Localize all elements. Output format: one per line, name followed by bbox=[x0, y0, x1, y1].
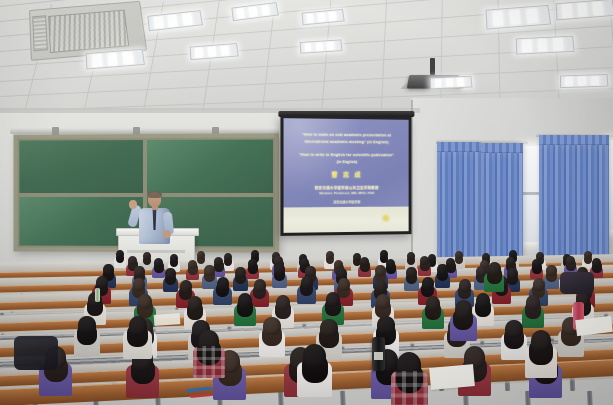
bench-leg bbox=[587, 391, 593, 405]
student-head bbox=[505, 320, 522, 338]
student-head bbox=[116, 250, 124, 258]
student-head bbox=[224, 253, 232, 261]
student-head bbox=[180, 280, 192, 293]
student bbox=[405, 267, 418, 289]
student-head bbox=[251, 250, 259, 258]
student-head bbox=[129, 316, 147, 336]
student bbox=[187, 260, 198, 279]
student-head bbox=[375, 265, 385, 276]
ceiling-light bbox=[516, 36, 575, 55]
student bbox=[236, 293, 254, 323]
student-head bbox=[526, 295, 540, 310]
student bbox=[234, 267, 247, 289]
student-white-shirt bbox=[528, 330, 554, 374]
slide-affiliation-cn: 西安交通大学医学部公共卫生学院教授 bbox=[284, 184, 409, 189]
student-head bbox=[170, 254, 178, 262]
student-head bbox=[143, 252, 151, 260]
lecture-hall-photo: "How to make an oral academic presentati… bbox=[0, 0, 613, 405]
slide-speaker-name: 曹 志 成 bbox=[284, 170, 409, 179]
student bbox=[436, 264, 449, 286]
student bbox=[164, 268, 177, 290]
water-bottle-green bbox=[95, 288, 100, 302]
slide-title-line-4: (in English) bbox=[284, 159, 409, 163]
student-head bbox=[420, 256, 429, 265]
student bbox=[545, 265, 558, 287]
student-head bbox=[531, 330, 551, 352]
student-head bbox=[134, 266, 144, 277]
student-head bbox=[380, 250, 388, 258]
student-head bbox=[274, 264, 284, 275]
student bbox=[424, 296, 442, 326]
student-head bbox=[276, 295, 290, 310]
student-head bbox=[506, 257, 515, 266]
student-head bbox=[455, 251, 463, 259]
student-head bbox=[217, 277, 229, 290]
student-head bbox=[376, 294, 390, 309]
student bbox=[153, 258, 164, 277]
student-head bbox=[406, 267, 416, 278]
projection-screen: "How to make an oral academic presentati… bbox=[280, 115, 411, 236]
student-head bbox=[437, 264, 447, 275]
bag bbox=[560, 272, 594, 294]
bottle-label bbox=[374, 352, 383, 360]
student-head bbox=[407, 252, 415, 260]
slide-bottom-band bbox=[284, 207, 409, 233]
student bbox=[215, 277, 230, 303]
presenter bbox=[128, 192, 182, 244]
student-head bbox=[546, 265, 556, 276]
backpack bbox=[14, 336, 58, 370]
student bbox=[299, 276, 314, 302]
student-head bbox=[426, 296, 440, 311]
student bbox=[359, 257, 370, 276]
student-green-polo bbox=[486, 262, 503, 290]
student-head bbox=[133, 278, 145, 291]
student-head bbox=[592, 258, 601, 267]
plaid-pattern bbox=[193, 346, 225, 378]
student-head bbox=[238, 293, 252, 308]
student-head bbox=[326, 292, 340, 307]
student-head bbox=[455, 300, 473, 319]
student-head bbox=[188, 296, 202, 311]
student bbox=[273, 264, 286, 286]
student-head bbox=[326, 251, 334, 259]
student-head bbox=[533, 278, 545, 291]
student-head bbox=[263, 317, 280, 335]
student-white-top bbox=[300, 344, 329, 393]
student-head bbox=[254, 279, 266, 292]
window-curtain bbox=[481, 143, 523, 261]
student-head bbox=[204, 265, 214, 276]
student bbox=[115, 250, 125, 267]
student-head bbox=[338, 278, 350, 291]
student-head bbox=[375, 280, 387, 293]
slide-content: "How to make an oral academic presentati… bbox=[284, 118, 409, 233]
student bbox=[531, 259, 542, 278]
student-head bbox=[476, 293, 490, 308]
student-head bbox=[154, 258, 163, 267]
student-head bbox=[422, 277, 434, 290]
student-head bbox=[320, 319, 337, 337]
pen bbox=[190, 393, 212, 398]
student bbox=[203, 265, 216, 287]
student bbox=[252, 279, 267, 305]
slide-detail-line-1: 西安交通大学医学部 bbox=[284, 200, 409, 205]
student-purple-hoodie bbox=[452, 300, 475, 338]
student-head bbox=[360, 257, 369, 266]
student bbox=[503, 320, 525, 357]
student-head bbox=[248, 259, 257, 268]
student-head bbox=[566, 256, 575, 265]
student bbox=[524, 295, 542, 325]
ceiling-light bbox=[430, 76, 473, 90]
student-head bbox=[138, 294, 152, 309]
student-head bbox=[459, 279, 471, 292]
student-head bbox=[377, 316, 394, 334]
student-head bbox=[78, 316, 95, 334]
student-head bbox=[197, 251, 205, 259]
student-head bbox=[128, 256, 137, 265]
student bbox=[247, 259, 258, 278]
slide-affiliation-en: Michael, Professor, MD, MPH, PhD bbox=[284, 191, 409, 196]
student-head bbox=[165, 268, 175, 279]
bench-leg bbox=[340, 391, 346, 405]
student-head bbox=[188, 260, 197, 269]
student-light-top bbox=[126, 316, 149, 355]
student-head bbox=[235, 267, 245, 278]
slide-title-line-3: "How to write in English for scientific … bbox=[284, 153, 409, 158]
paper-sheet bbox=[154, 313, 181, 326]
student bbox=[76, 316, 98, 353]
student-head bbox=[96, 276, 108, 289]
window-frame bbox=[523, 192, 539, 195]
window-curtain bbox=[539, 135, 609, 263]
student-head bbox=[301, 276, 313, 289]
ceiling-light bbox=[560, 74, 608, 88]
student-head bbox=[103, 264, 113, 275]
student bbox=[419, 256, 430, 275]
paper-sheet bbox=[429, 364, 475, 390]
student-head bbox=[532, 259, 541, 268]
student-head bbox=[303, 344, 326, 368]
student bbox=[324, 292, 342, 322]
student bbox=[261, 317, 283, 354]
student-head bbox=[386, 259, 395, 268]
student-head bbox=[488, 262, 501, 276]
window-curtain bbox=[437, 142, 481, 260]
plaid-pattern bbox=[391, 371, 428, 405]
